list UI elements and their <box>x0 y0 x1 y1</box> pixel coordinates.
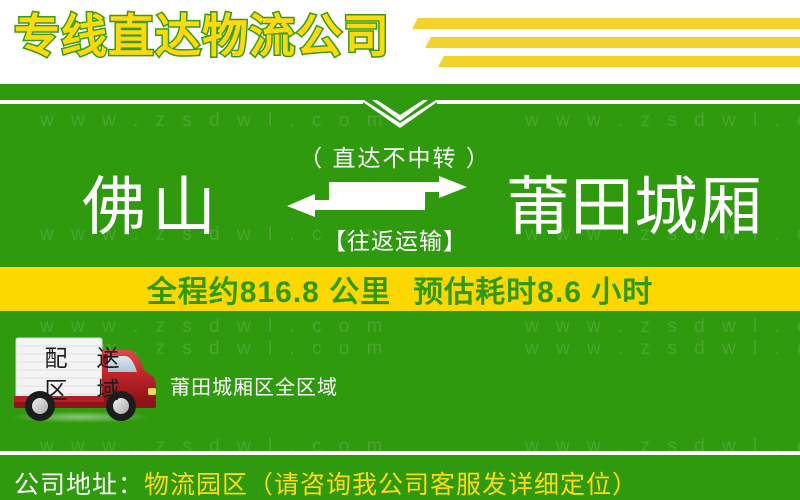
chevron-down-icon <box>358 97 442 131</box>
stripe-3 <box>438 56 800 67</box>
total-distance-label: 全程约816.8 公里 <box>147 276 391 309</box>
direct-route-note-row: （ 直达不中转 ） <box>0 139 800 173</box>
delivery-truck-icon: 配 送 区 域 <box>6 332 158 424</box>
bidirectional-arrow-icon <box>287 176 467 218</box>
stripe-2 <box>425 37 800 48</box>
footer-divider <box>0 451 800 455</box>
decorative-stripes <box>405 16 800 76</box>
poster-body: w w w . z s d w l . c o m w w w . z s d … <box>0 84 800 500</box>
stripe-1 <box>412 18 800 29</box>
distance-band: 全程约816.8 公里预估耗时8.6 小时 <box>0 267 800 311</box>
company-headline: 专线直达物流公司 <box>14 8 390 64</box>
company-address-row: 公司地址：物流园区（请咨询我公司客服发详细定位） <box>14 465 638 500</box>
roundtrip-note-row: 【往返运输】 <box>0 222 800 256</box>
watermark-text: w w w . z s d w l . c o m <box>525 316 800 338</box>
direct-route-note: （ 直达不中转 ） <box>299 139 491 173</box>
coverage-area-text: 莆田城厢区全区域 <box>170 371 338 400</box>
poster-header: 专线直达物流公司 <box>0 0 800 84</box>
logistics-poster: 专线直达物流公司 w w w . z s d w l . c o m w w w… <box>0 0 800 500</box>
watermark-text: w w w . z s d w l . c o m <box>525 338 800 360</box>
divider-with-chevron <box>0 100 800 134</box>
estimated-duration-label: 预估耗时8.6 小时 <box>413 276 653 309</box>
company-address-label: 公司地址： <box>14 471 144 499</box>
divider-line-right <box>437 100 800 104</box>
company-address-value: 物流园区（请咨询我公司客服发详细定位） <box>144 471 638 499</box>
distance-band-text: 全程约816.8 公里预估耗时8.6 小时 <box>147 267 653 311</box>
divider-line-left <box>0 100 363 104</box>
roundtrip-note: 【往返运输】 <box>323 222 467 256</box>
